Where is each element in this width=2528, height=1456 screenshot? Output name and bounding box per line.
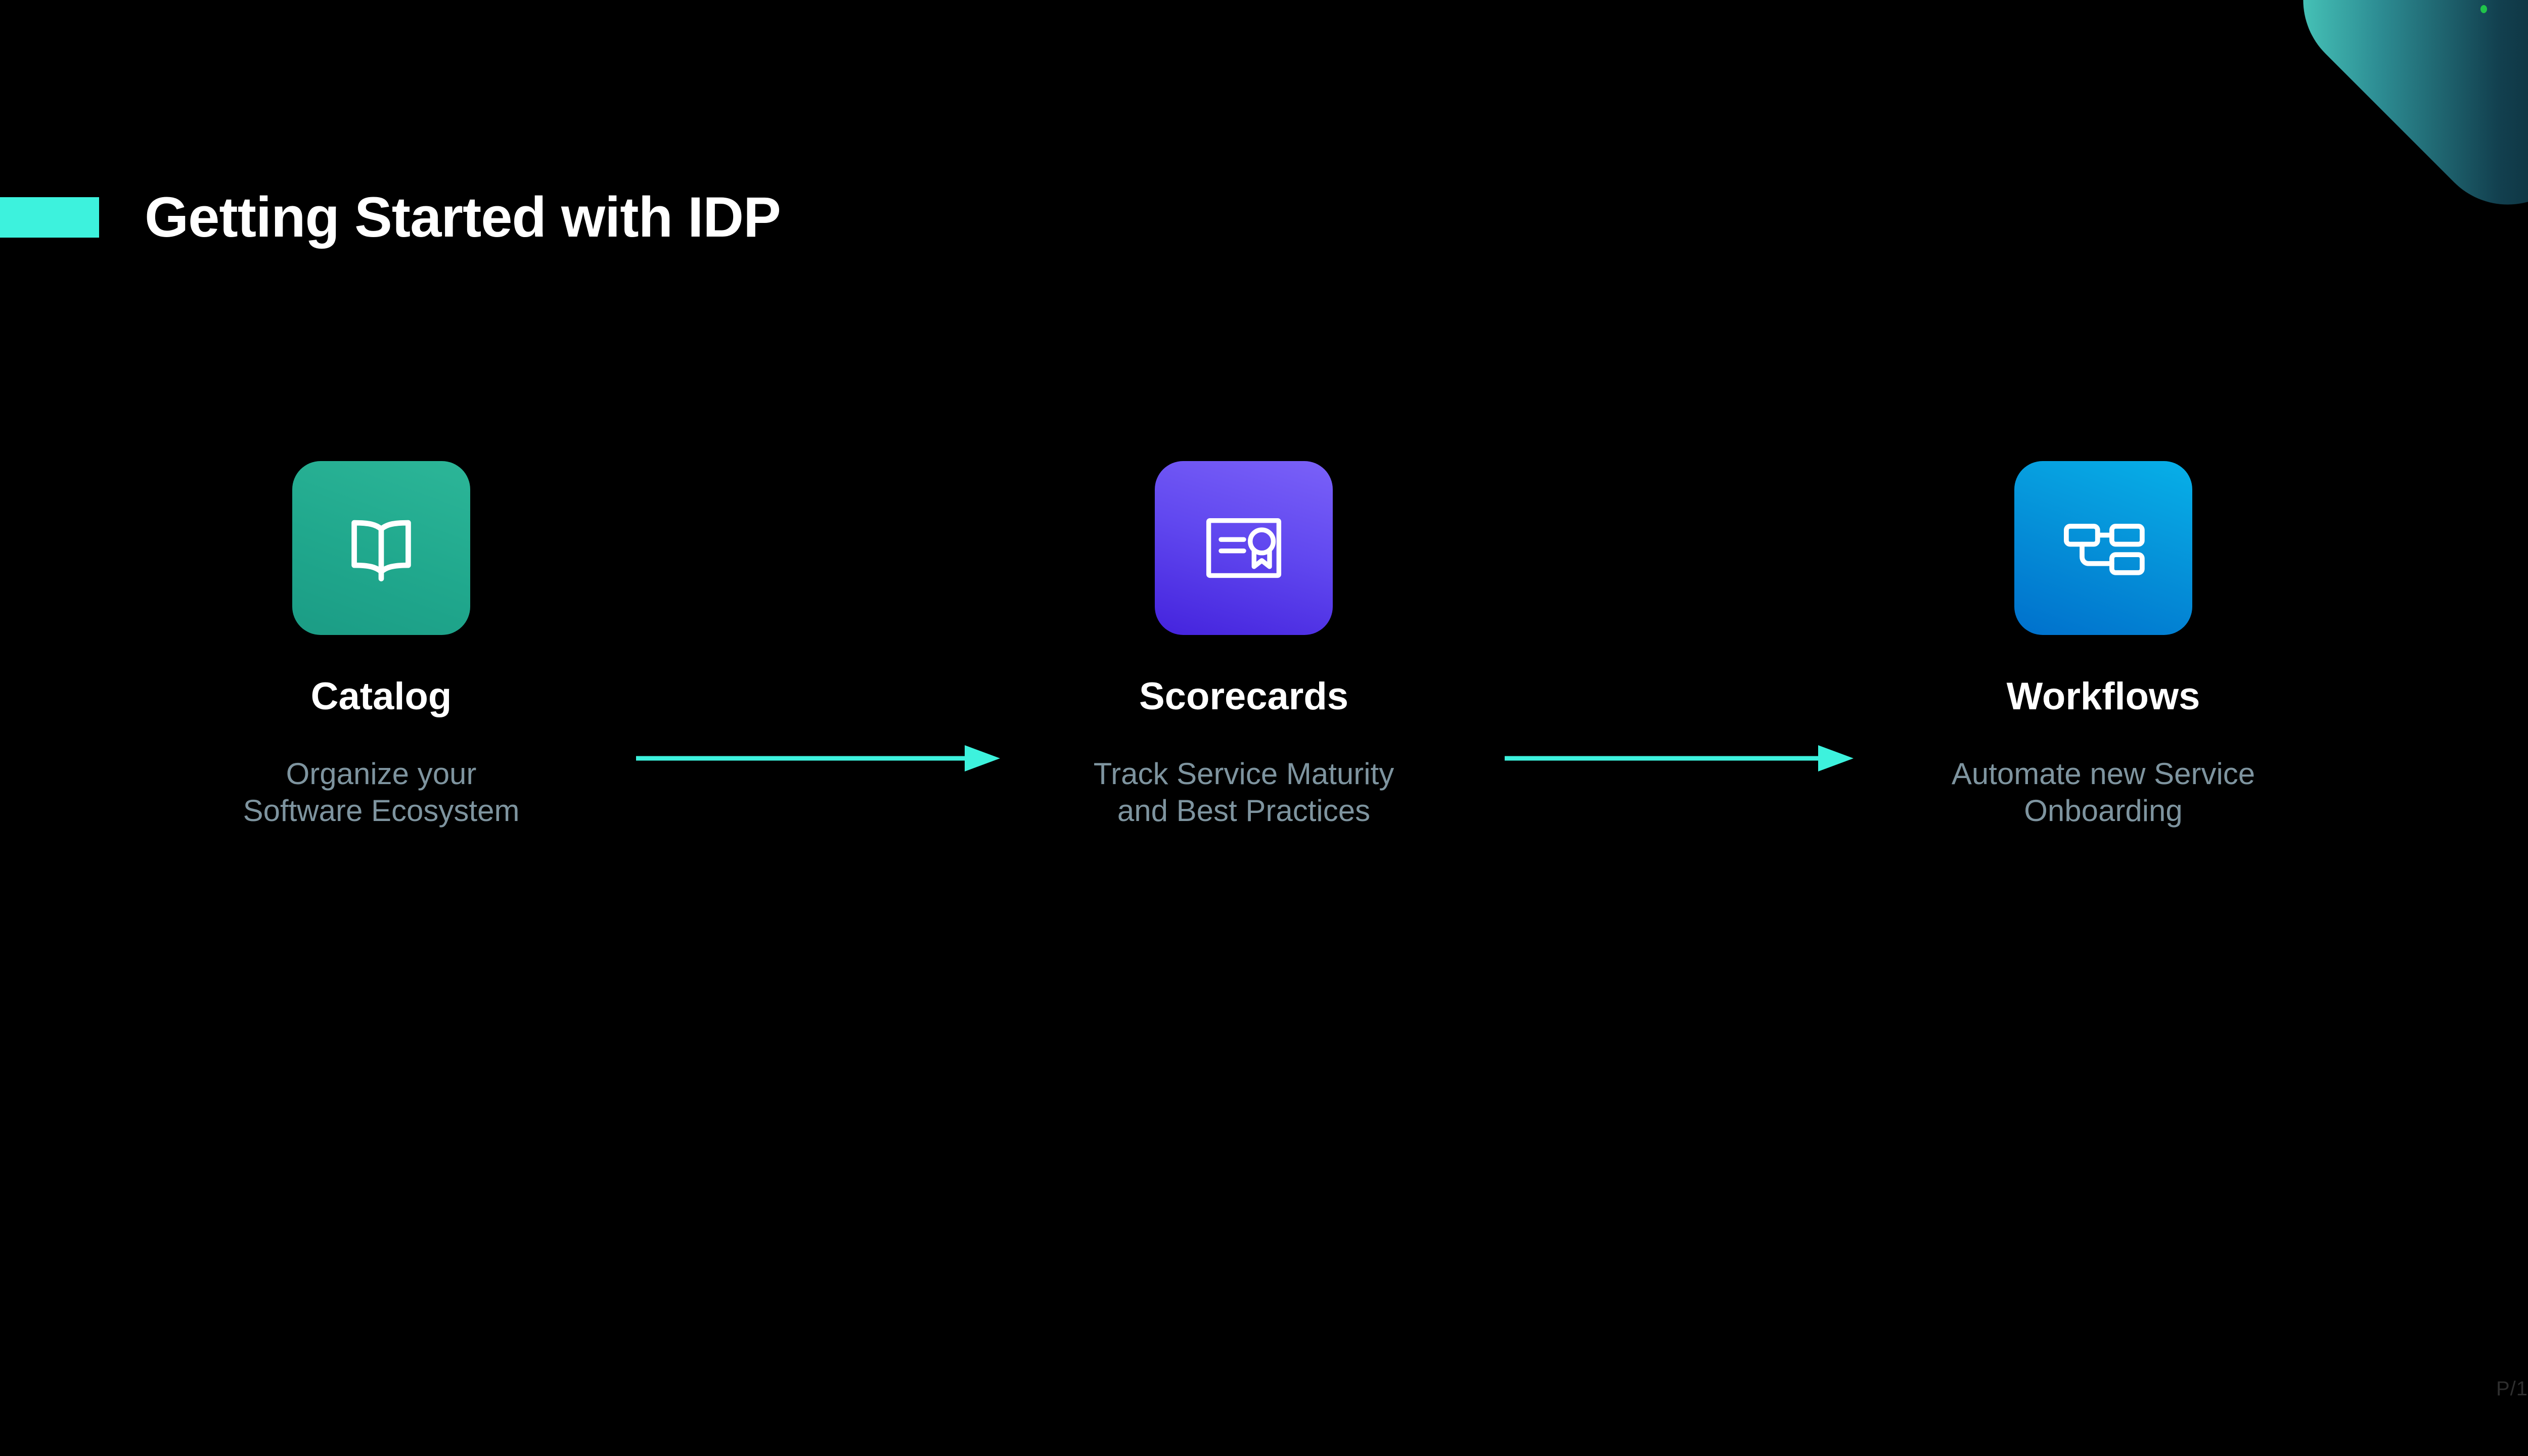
step-label: Workflows <box>1850 677 2356 716</box>
page-title: Getting Started with IDP <box>145 189 781 246</box>
certificate-award-icon <box>1198 503 1289 594</box>
getting-started-flow: Catalog Organize your Software Ecosystem… <box>0 445 2528 1001</box>
page-indicator: P/1 <box>2496 1378 2528 1400</box>
open-book-icon <box>333 500 429 596</box>
catalog-icon-tile[interactable] <box>292 461 470 635</box>
flow-step-workflows[interactable]: Workflows Automate new Service Onboardin… <box>1850 445 2356 829</box>
flow-step-scorecards[interactable]: Scorecards Track Service Maturity and Be… <box>991 445 1497 829</box>
decorative-rounded-square-shape <box>2272 0 2528 236</box>
step-description: Automate new Service Onboarding <box>1850 755 2356 829</box>
scorecards-icon-tile[interactable] <box>1155 461 1333 635</box>
title-accent-bar <box>0 197 99 238</box>
flowchart-sitemap-icon <box>2058 503 2149 594</box>
step-description: Organize your Software Ecosystem <box>128 755 634 829</box>
arrow-scorecards-to-workflows <box>1505 738 1854 779</box>
step-label: Catalog <box>128 677 634 716</box>
flow-step-catalog[interactable]: Catalog Organize your Software Ecosystem <box>128 445 634 829</box>
recording-indicator-dot <box>2480 5 2487 13</box>
arrow-catalog-to-scorecards <box>636 738 1000 779</box>
slide-title-row: Getting Started with IDP <box>0 167 781 268</box>
workflows-icon-tile[interactable] <box>2014 461 2192 635</box>
step-label: Scorecards <box>991 677 1497 716</box>
step-description: Track Service Maturity and Best Practice… <box>991 755 1497 829</box>
